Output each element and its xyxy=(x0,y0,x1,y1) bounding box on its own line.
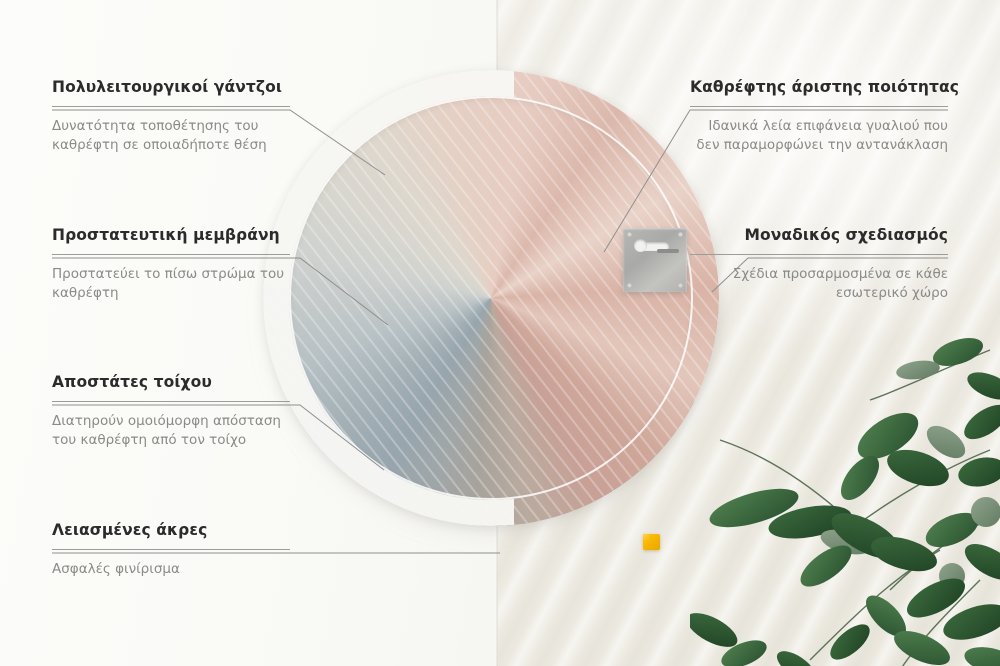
yellow-wall-spacer xyxy=(643,534,660,550)
callout-spacers-rule xyxy=(52,401,290,402)
hook-screw-icon xyxy=(678,283,683,288)
callout-unique-design-rule xyxy=(690,254,948,255)
callout-membrane-body: Προστατεύει το πίσω στρώμα του καθρέφτη xyxy=(52,265,290,304)
callout-spacers: Αποστάτες τοίχου Διατηρούν ομοιόμορφη απ… xyxy=(52,373,290,451)
callout-quality-mirror: Καθρέφτης άριστης ποιότητας Ιδανικά λεία… xyxy=(690,78,948,156)
infographic-canvas: Πολυλειτουργικοί γάντζοι Δυνατότητα τοπο… xyxy=(0,0,1000,666)
callout-hooks-body: Δυνατότητα τοποθέτησης του καθρέφτη σε ο… xyxy=(52,117,290,156)
callout-edges: Λειασμένες άκρες Ασφαλές φινίρισμα xyxy=(52,521,290,579)
callout-spacers-body: Διατηρούν ομοιόμορφη απόσταση του καθρέφ… xyxy=(52,412,290,451)
callout-spacers-title: Αποστάτες τοίχου xyxy=(52,373,290,392)
hook-screw-icon xyxy=(627,283,632,288)
callout-quality-mirror-title: Καθρέφτης άριστης ποιότητας xyxy=(690,78,948,97)
callout-unique-design: Μοναδικός σχεδιασμός Σχέδια προσαρμοσμέν… xyxy=(690,226,948,304)
wall-mount-hook-plate xyxy=(623,228,687,292)
callout-edges-body: Ασφαλές φινίρισμα xyxy=(52,560,290,580)
callout-hooks-rule xyxy=(52,106,290,107)
callout-hooks-title: Πολυλειτουργικοί γάντζοι xyxy=(52,78,290,97)
callout-membrane-rule xyxy=(52,254,290,255)
decorative-plant xyxy=(690,330,1000,666)
callout-edges-rule xyxy=(52,549,290,550)
callout-edges-title: Λειασμένες άκρες xyxy=(52,521,290,540)
callout-unique-design-title: Μοναδικός σχεδιασμός xyxy=(690,226,948,245)
hook-bar xyxy=(657,249,679,253)
mirror-reflection-area xyxy=(497,70,719,526)
callout-unique-design-body: Σχέδια προσαρμοσμένα σε κάθε εσωτερικό χ… xyxy=(690,265,948,304)
mirror-disc xyxy=(263,70,719,526)
reflected-blue-tint xyxy=(497,400,719,526)
hook-screw-icon xyxy=(678,232,683,237)
reflected-room-scene xyxy=(497,70,719,526)
callout-membrane: Προστατευτική μεμβράνη Προστατεύει το πί… xyxy=(52,226,290,304)
callout-membrane-title: Προστατευτική μεμβράνη xyxy=(52,226,290,245)
hook-screw-icon xyxy=(627,232,632,237)
callout-quality-mirror-rule xyxy=(690,106,948,107)
product-mirror xyxy=(263,70,719,526)
callout-hooks: Πολυλειτουργικοί γάντζοι Δυνατότητα τοπο… xyxy=(52,78,290,156)
plant-leaves xyxy=(690,333,1000,666)
callout-quality-mirror-body: Ιδανικά λεία επιφάνεια γυαλιού που δεν π… xyxy=(690,117,948,156)
